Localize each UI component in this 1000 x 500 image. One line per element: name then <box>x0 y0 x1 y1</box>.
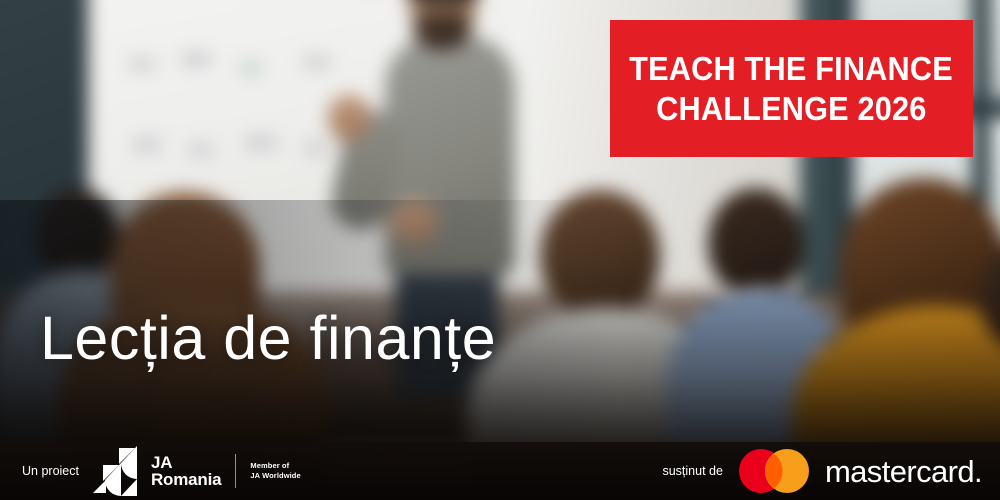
ja-divider <box>235 454 236 488</box>
promo-banner: TEACH THE FINANCE CHALLENGE 2026 Lecția … <box>0 0 1000 500</box>
project-label: Un proiect <box>22 464 79 478</box>
ja-name-line-2: Romania <box>151 471 221 488</box>
mastercard-logo-icon <box>737 448 811 494</box>
page-title: Lecția de finanțe <box>40 308 496 369</box>
mastercard-wordmark-text: mastercard <box>825 454 974 489</box>
ja-romania-credit: Un proiect JA Romania <box>22 442 301 500</box>
sponsor-label: susținut de <box>662 464 722 478</box>
promo-line-1: TEACH THE FINANCE <box>630 51 954 87</box>
mastercard-credit: susținut de mastercard. <box>662 442 982 500</box>
promo-callout: TEACH THE FINANCE CHALLENGE 2026 <box>610 20 973 157</box>
ja-name-line-1: JA <box>151 454 221 471</box>
ja-member-line-1: Member of <box>250 461 300 471</box>
ja-member-note: Member of JA Worldwide <box>250 461 300 481</box>
ja-logo-icon <box>93 445 137 497</box>
promo-line-2: CHALLENGE 2026 <box>656 91 926 127</box>
ja-member-line-2: JA Worldwide <box>250 471 300 481</box>
mastercard-wordmark: mastercard. <box>825 456 982 487</box>
mastercard-wordmark-period: . <box>974 454 982 489</box>
ja-wordmark: JA Romania <box>151 454 221 489</box>
